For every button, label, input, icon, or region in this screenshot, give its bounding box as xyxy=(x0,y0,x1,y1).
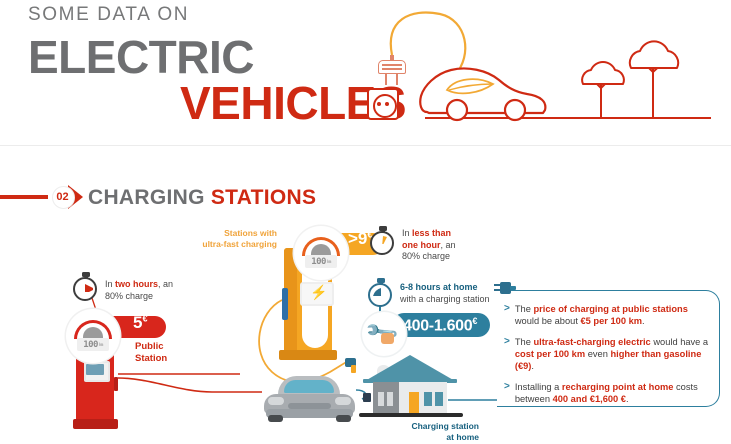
fact-bullet-text: Installing a recharging point at home co… xyxy=(515,381,714,405)
home-price-number: 400-1.600 xyxy=(403,317,472,334)
public-time-suffix: , an xyxy=(158,279,173,289)
stopwatch-icon xyxy=(368,278,394,308)
header-title-electric: ELECTRIC xyxy=(28,34,254,80)
public-price-value: 5€ xyxy=(133,313,147,333)
house-socket-icon xyxy=(363,393,371,402)
fast-charging-station: ⚡ Stations with ultra-fast charging >9€ … xyxy=(278,248,338,363)
header-block: SOME DATA ON ELECTRIC VEHICLES xyxy=(28,4,254,80)
public-station-side-button xyxy=(114,377,118,391)
home-price-value: 400-1.600€ xyxy=(403,316,477,335)
public-station-label: Public Station xyxy=(135,341,167,365)
hand-icon xyxy=(381,333,394,344)
public-gauge-readout: 100km xyxy=(77,338,109,351)
car-icon xyxy=(262,376,358,424)
fast-station-gauge: 100km xyxy=(294,226,348,280)
section-number-badge: 02 xyxy=(52,183,82,211)
section-title-grey: CHARGING xyxy=(88,186,211,209)
hero-vector-art xyxy=(355,0,731,140)
home-station-time-note: 6-8 hours at home with a charging statio… xyxy=(368,278,490,308)
stopwatch-icon xyxy=(370,226,396,256)
house-caption: Charging station at home xyxy=(383,421,479,443)
fact-bullet: >Installing a recharging point at home c… xyxy=(504,381,714,405)
fast-station-time-note: In less than one hour, an 80% charge xyxy=(370,226,456,263)
header-eyebrow: SOME DATA ON xyxy=(28,4,254,26)
bullet-chevron-icon: > xyxy=(504,336,510,372)
section-title: CHARGING STATIONS xyxy=(88,186,316,210)
facts-bullet-list: >The price of charging at public station… xyxy=(504,303,714,414)
stopwatch-icon xyxy=(73,272,99,302)
public-station-time-note: In two hours, an 80% charge xyxy=(73,272,173,302)
public-time-bold: two hours xyxy=(115,279,158,289)
home-price-currency: € xyxy=(472,316,477,326)
fact-bullet-text: The price of charging at public stations… xyxy=(515,303,714,327)
public-time-prefix: In xyxy=(105,279,115,289)
header-divider xyxy=(0,145,731,146)
fast-gauge-readout: 100km xyxy=(305,255,337,268)
bullet-chevron-icon: > xyxy=(504,303,510,327)
fast-price-value: >9€ xyxy=(348,229,372,249)
public-time-line2: 80% charge xyxy=(105,291,153,301)
fact-bullet: >The price of charging at public station… xyxy=(504,303,714,327)
lightning-bolt-icon: ⚡ xyxy=(310,284,327,300)
section-number: 02 xyxy=(52,186,73,207)
section-rule xyxy=(0,195,48,199)
fact-bullet: >The ultra-fast-charging electric would … xyxy=(504,336,714,372)
fast-station-label: Stations with ultra-fast charging xyxy=(199,228,277,250)
plug-icon xyxy=(494,281,516,295)
public-station-gauge: 100km xyxy=(66,309,120,363)
public-price-currency: € xyxy=(142,313,147,323)
house-icon xyxy=(365,355,455,417)
bullet-chevron-icon: > xyxy=(504,381,510,405)
fast-price-number: >9 xyxy=(348,229,367,248)
charging-nozzle-icon xyxy=(345,358,363,374)
public-charging-station: 5€ Public Station 100km xyxy=(73,323,121,433)
section-title-red: STATIONS xyxy=(211,186,316,209)
hero-illustration xyxy=(355,0,731,140)
fact-bullet-text: The ultra-fast-charging electric would h… xyxy=(515,336,714,372)
fast-station-side-button xyxy=(282,288,288,320)
